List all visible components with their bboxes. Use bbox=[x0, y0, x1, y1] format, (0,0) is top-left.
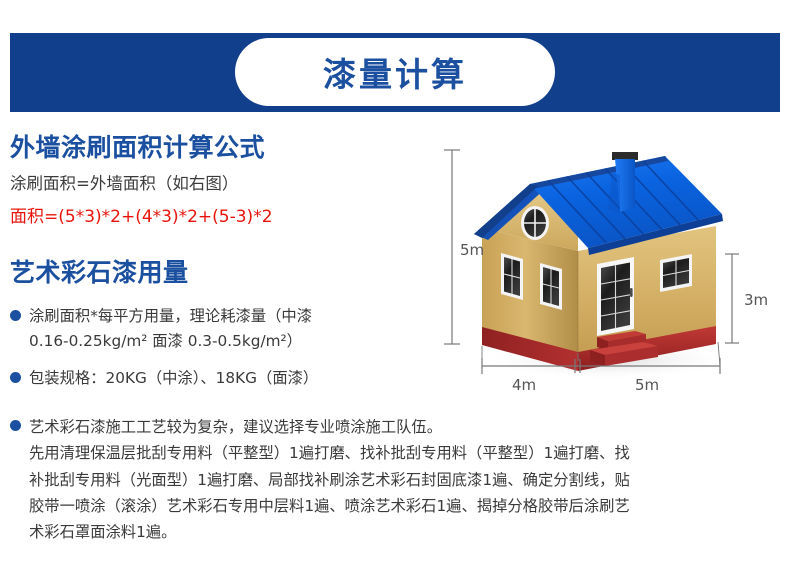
content-left-column: 外墙涂刷面积计算公式 涂刷面积=外墙面积（如右图） 面积=(5*3)*2+(4*… bbox=[10, 132, 460, 404]
header-banner: 漆量计算 bbox=[10, 33, 780, 112]
formula-description: 涂刷面积=外墙面积（如右图） bbox=[10, 172, 460, 197]
dimension-label-height-wall: 3m bbox=[744, 291, 768, 309]
process-description-block: 艺术彩石漆施工工艺较为复杂，建议选择专业喷涂施工队伍。 先用清理保温层批刮专用料… bbox=[10, 414, 785, 558]
heading-usage-section: 艺术彩石漆用量 bbox=[10, 257, 460, 288]
list-item-line: 包装规格：20KG（中涂）、18KG（面漆） bbox=[29, 366, 318, 391]
list-item-line: 术彩石罩面涂料1遍。 bbox=[29, 519, 630, 545]
list-item-line: 先用清理保温层批刮专用料（平整型）1遍打磨、找补批刮专用料（平整型）1遍打磨、找 bbox=[29, 440, 630, 466]
usage-bullet-list: 涂刷面积*每平方用量，理论耗漆量（中漆 0.16-0.25kg/m² 面漆 0.… bbox=[10, 304, 460, 391]
list-item-text: 包装规格：20KG（中涂）、18KG（面漆） bbox=[29, 366, 318, 391]
list-item-text: 涂刷面积*每平方用量，理论耗漆量（中漆 0.16-0.25kg/m² 面漆 0.… bbox=[29, 304, 312, 354]
area-formula: 面积=(5*3)*2+(4*3)*2+(5-3)*2 bbox=[10, 205, 460, 230]
list-item: 包装规格：20KG（中涂）、18KG（面漆） bbox=[10, 366, 460, 391]
list-item-line: 0.16-0.25kg/m² 面漆 0.3-0.5kg/m²） bbox=[29, 329, 312, 354]
list-item-line: 补批刮专用料（光面型）1遍打磨、局部找补刷涂艺术彩石封固底漆1遍、确定分割线，贴 bbox=[29, 467, 630, 493]
door-handle-icon bbox=[630, 288, 633, 297]
list-item: 涂刷面积*每平方用量，理论耗漆量（中漆 0.16-0.25kg/m² 面漆 0.… bbox=[10, 304, 460, 354]
dimension-label-height-total: 5m bbox=[460, 241, 484, 259]
page-title-pill: 漆量计算 bbox=[235, 38, 555, 106]
heading-formula-section: 外墙涂刷面积计算公式 bbox=[10, 132, 460, 163]
chimney-cap-icon bbox=[612, 152, 638, 160]
house-illustration: 5m 3m 4m 5m bbox=[430, 128, 790, 413]
house-svg: 5m 3m 4m 5m bbox=[430, 128, 790, 413]
bullet-dot-icon bbox=[10, 372, 21, 383]
page-title: 漆量计算 bbox=[323, 48, 467, 96]
list-item-line: 艺术彩石漆施工工艺较为复杂，建议选择专业喷涂施工队伍。 bbox=[29, 414, 630, 440]
list-item-text: 艺术彩石漆施工工艺较为复杂，建议选择专业喷涂施工队伍。 先用清理保温层批刮专用料… bbox=[29, 414, 630, 545]
dimension-label-width-front: 5m bbox=[635, 376, 659, 394]
list-item-line: 胶带一喷涂（滚涂）艺术彩石专用中层料1遍、喷涂艺术彩石1遍、揭掉分格胶带后涂刷艺 bbox=[29, 493, 630, 519]
list-item-line: 涂刷面积*每平方用量，理论耗漆量（中漆 bbox=[29, 304, 312, 329]
bullet-dot-icon bbox=[10, 310, 21, 321]
dimension-label-width-side: 4m bbox=[512, 376, 536, 394]
list-item: 艺术彩石漆施工工艺较为复杂，建议选择专业喷涂施工队伍。 先用清理保温层批刮专用料… bbox=[10, 414, 785, 545]
bullet-dot-icon bbox=[10, 420, 21, 431]
